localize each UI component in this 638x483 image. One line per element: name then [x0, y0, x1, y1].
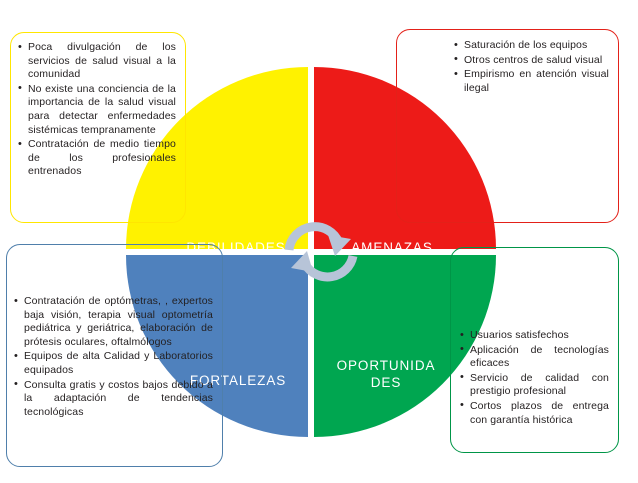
list-item: Usuarios satisfechos	[459, 329, 609, 343]
list-item: Cortos plazos de entrega con garantía hi…	[459, 400, 609, 427]
bullet-list-fortalezas: Contratación de optómetras, , expertos b…	[13, 295, 213, 419]
circular-arrows-icon	[281, 214, 363, 292]
arrow-counterclockwise-bottom	[291, 251, 353, 277]
list-item: Saturación de los equipos	[453, 39, 609, 53]
list-item: Equipos de alta Calidad y Laboratorios e…	[13, 350, 213, 377]
text-box-amenazas[interactable]: Saturación de los equipos Otros centros …	[396, 29, 619, 223]
bullet-list-debilidades: Poca divulgación de los servicios de sal…	[17, 41, 176, 179]
text-box-oportunidades[interactable]: Usuarios satisfechos Aplicación de tecno…	[450, 247, 619, 453]
arrow-clockwise-top	[289, 227, 351, 256]
list-item: Contratación de optómetras, , expertos b…	[13, 295, 213, 349]
list-item: Poca divulgación de los servicios de sal…	[17, 41, 176, 82]
list-item: Contratación de medio tiempo de los prof…	[17, 138, 176, 179]
list-item: Otros centros de salud visual	[453, 54, 609, 68]
list-item: Consulta gratis y costos bajos debido a …	[13, 379, 213, 420]
bullet-list-amenazas: Saturación de los equipos Otros centros …	[453, 39, 609, 95]
list-item: Empirismo en atención visual ilegal	[453, 68, 609, 95]
swot-diagram-canvas: DEBILIDADES AMENAZAS FORTALEZAS OPORTUNI…	[0, 0, 638, 483]
list-item: Servicio de calidad con prestigio profes…	[459, 372, 609, 399]
text-box-fortalezas[interactable]: Contratación de optómetras, , expertos b…	[6, 244, 223, 467]
list-item: No existe una conciencia de la importanc…	[17, 83, 176, 137]
list-item: Aplicación de tecnologías eficaces	[459, 344, 609, 371]
text-box-debilidades[interactable]: Poca divulgación de los servicios de sal…	[10, 32, 186, 223]
bullet-list-oportunidades: Usuarios satisfechos Aplicación de tecno…	[459, 329, 609, 427]
